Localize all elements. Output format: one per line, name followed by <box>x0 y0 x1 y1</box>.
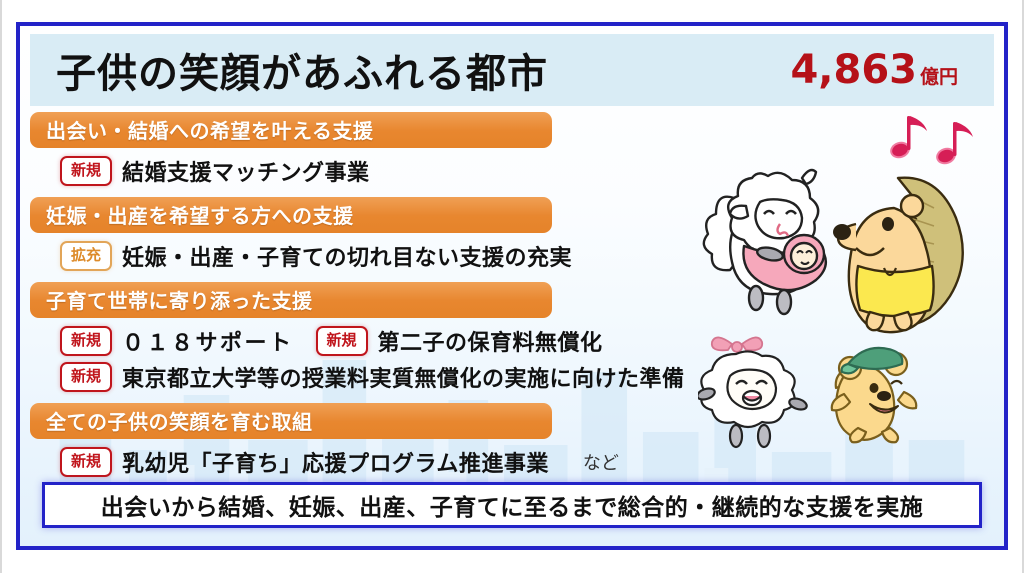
section-header: 妊娠・出産を希望する方への支援 <box>30 197 552 233</box>
budget-amount: 4,863 億円 <box>790 47 976 93</box>
summary-banner: 出会いから結婚、妊娠、出産、子育てに至るまで総合的・継続的な支援を実施 <box>42 482 982 528</box>
title-band: 子供の笑顔があふれる都市 4,863 億円 <box>30 34 994 106</box>
section-items: 拡充 妊娠・出産・子育ての切れ目ない支援の充実 <box>30 233 730 280</box>
list-item: 拡充 妊娠・出産・子育ての切れ目ない支援の充実 <box>30 240 730 272</box>
list-item: 新規 東京都立大学等の授業料実質無償化の実施に向けた準備 <box>30 361 730 393</box>
list-item: 新規 ０１８サポート 新規 第二子の保育料無償化 <box>30 325 730 357</box>
status-badge-new: 新規 <box>60 447 112 477</box>
hedgehog-child-illustration <box>832 348 917 442</box>
status-badge-new: 新規 <box>316 326 368 356</box>
left-edge-line <box>0 0 2 573</box>
section-items: 新規 ０１８サポート 新規 第二子の保育料無償化 新規 東京都立大学等の授業料実… <box>30 318 730 401</box>
section-all-children-smiles: 全ての子供の笑顔を育む取組 新規 乳幼児「子育ち」応援プログラム推進事業 など <box>30 403 730 486</box>
item-label: ０１８サポート <box>122 325 294 357</box>
section-header: 全ての子供の笑顔を育む取組 <box>30 403 552 439</box>
summary-banner-text: 出会いから結婚、妊娠、出産、子育てに至るまで総合的・継続的な支援を実施 <box>101 488 924 522</box>
item-label: 東京都立大学等の授業料実質無償化の実施に向けた準備 <box>122 361 685 393</box>
list-item: 新規 乳幼児「子育ち」応援プログラム推進事業 など <box>30 446 730 478</box>
section-meeting-marriage: 出会い・結婚への希望を叶える支援 新規 結婚支援マッチング事業 <box>30 112 730 195</box>
sections-list: 出会い・結婚への希望を叶える支援 新規 結婚支援マッチング事業 妊娠・出産を希望… <box>30 112 730 488</box>
mascot-illustrations <box>698 106 998 476</box>
section-items: 新規 乳幼児「子育ち」応援プログラム推進事業 など <box>30 439 730 486</box>
status-badge-new: 新規 <box>60 362 112 392</box>
item-label: 第二子の保育料無償化 <box>378 325 603 357</box>
budget-amount-unit: 億円 <box>920 62 958 89</box>
hedgehog-adult-illustration <box>833 178 963 332</box>
status-badge-expand: 拡充 <box>60 241 112 271</box>
slide-root: 子供の笑顔があふれる都市 4,863 億円 出会い・結婚への希望を叶える支援 新… <box>0 0 1024 573</box>
item-label: 結婚支援マッチング事業 <box>122 155 370 187</box>
slide-frame: 子供の笑顔があふれる都市 4,863 億円 出会い・結婚への希望を叶える支援 新… <box>16 22 1008 550</box>
section-header: 出会い・結婚への希望を叶える支援 <box>30 112 552 148</box>
etc-label: など <box>583 449 619 475</box>
section-pregnancy-birth: 妊娠・出産を希望する方への支援 拡充 妊娠・出産・子育ての切れ目ない支援の充実 <box>30 197 730 280</box>
section-items: 新規 結婚支援マッチング事業 <box>30 148 730 195</box>
item-label: 乳幼児「子育ち」応援プログラム推進事業 <box>122 446 549 478</box>
list-item: 新規 結婚支援マッチング事業 <box>30 155 730 187</box>
page-title: 子供の笑顔があふれる都市 <box>56 41 548 99</box>
section-childrearing-households: 子育て世帯に寄り添った支援 新規 ０１８サポート 新規 第二子の保育料無償化 新… <box>30 282 730 401</box>
music-notes-icon <box>889 116 973 165</box>
item-label: 妊娠・出産・子育ての切れ目ない支援の充実 <box>122 240 572 272</box>
section-header: 子育て世帯に寄り添った支援 <box>30 282 552 318</box>
budget-amount-value: 4,863 <box>790 47 917 93</box>
status-badge-new: 新規 <box>60 326 112 356</box>
status-badge-new: 新規 <box>60 156 112 186</box>
